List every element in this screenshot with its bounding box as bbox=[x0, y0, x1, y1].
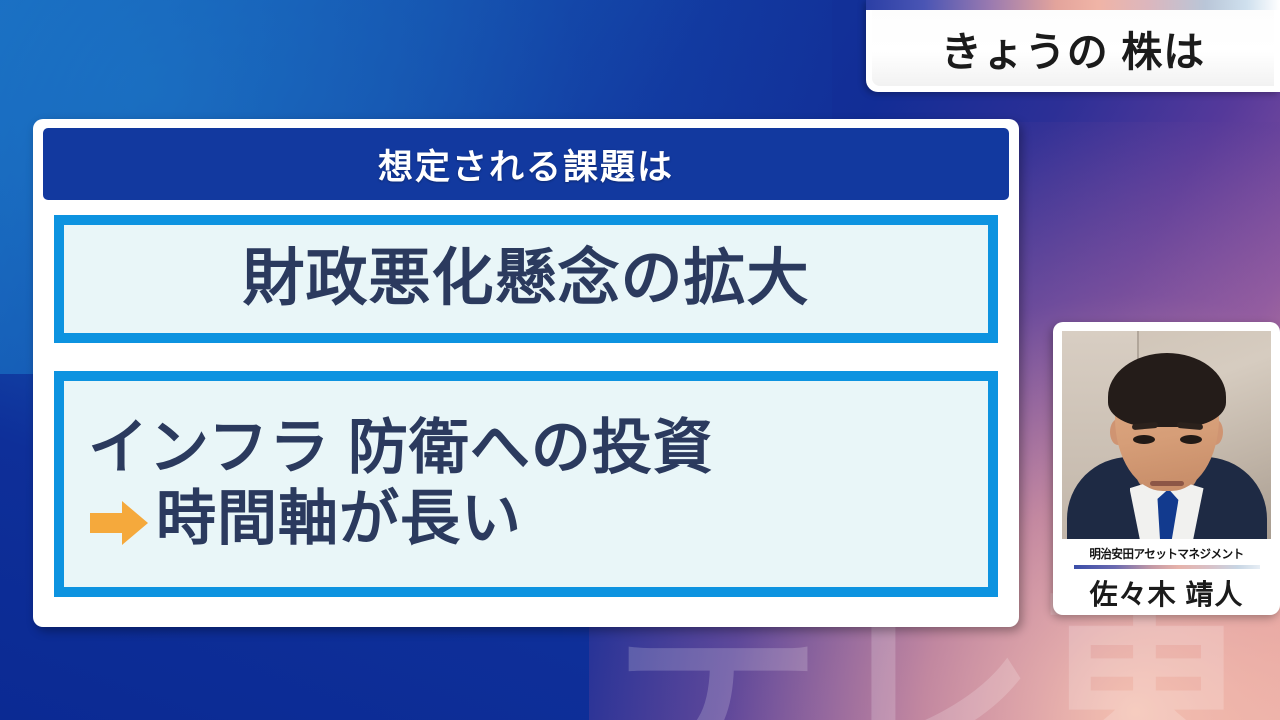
point-box-2: インフラ 防衛への投資 時間軸が長い bbox=[54, 371, 998, 597]
card-divider bbox=[1074, 565, 1260, 569]
commentator-affiliation: 明治安田アセットマネジメント bbox=[1066, 545, 1267, 562]
point-line-with-arrow: 時間軸が長い bbox=[88, 487, 522, 552]
point-box-1: 財政悪化懸念の拡大 bbox=[54, 215, 998, 343]
program-banner: きょうの 株は bbox=[866, 0, 1280, 92]
point-line-text: 時間軸が長い bbox=[156, 487, 522, 552]
commentator-card: 明治安田アセットマネジメント 佐々木 靖人 bbox=[1053, 322, 1280, 615]
panel-header-bar: 想定される課題は bbox=[43, 128, 1009, 200]
banner-accent-stripe bbox=[866, 0, 1280, 10]
photo-eye-left bbox=[1133, 435, 1155, 444]
right-arrow-icon bbox=[88, 495, 150, 543]
commentator-photo bbox=[1062, 331, 1271, 539]
photo-eye-right bbox=[1180, 435, 1202, 444]
panel-title: 想定される課題は bbox=[378, 139, 674, 190]
commentator-name: 佐々木 靖人 bbox=[1062, 573, 1271, 613]
info-panel: 想定される課題は 財政悪化懸念の拡大 インフラ 防衛への投資 時間軸が長い bbox=[33, 119, 1019, 627]
program-banner-title: きょうの 株は bbox=[941, 18, 1205, 78]
photo-mouth bbox=[1150, 481, 1184, 486]
banner-body: きょうの 株は bbox=[872, 10, 1274, 86]
point-line: 財政悪化懸念の拡大 bbox=[242, 246, 809, 313]
point-line: インフラ 防衛への投資 bbox=[88, 416, 714, 481]
